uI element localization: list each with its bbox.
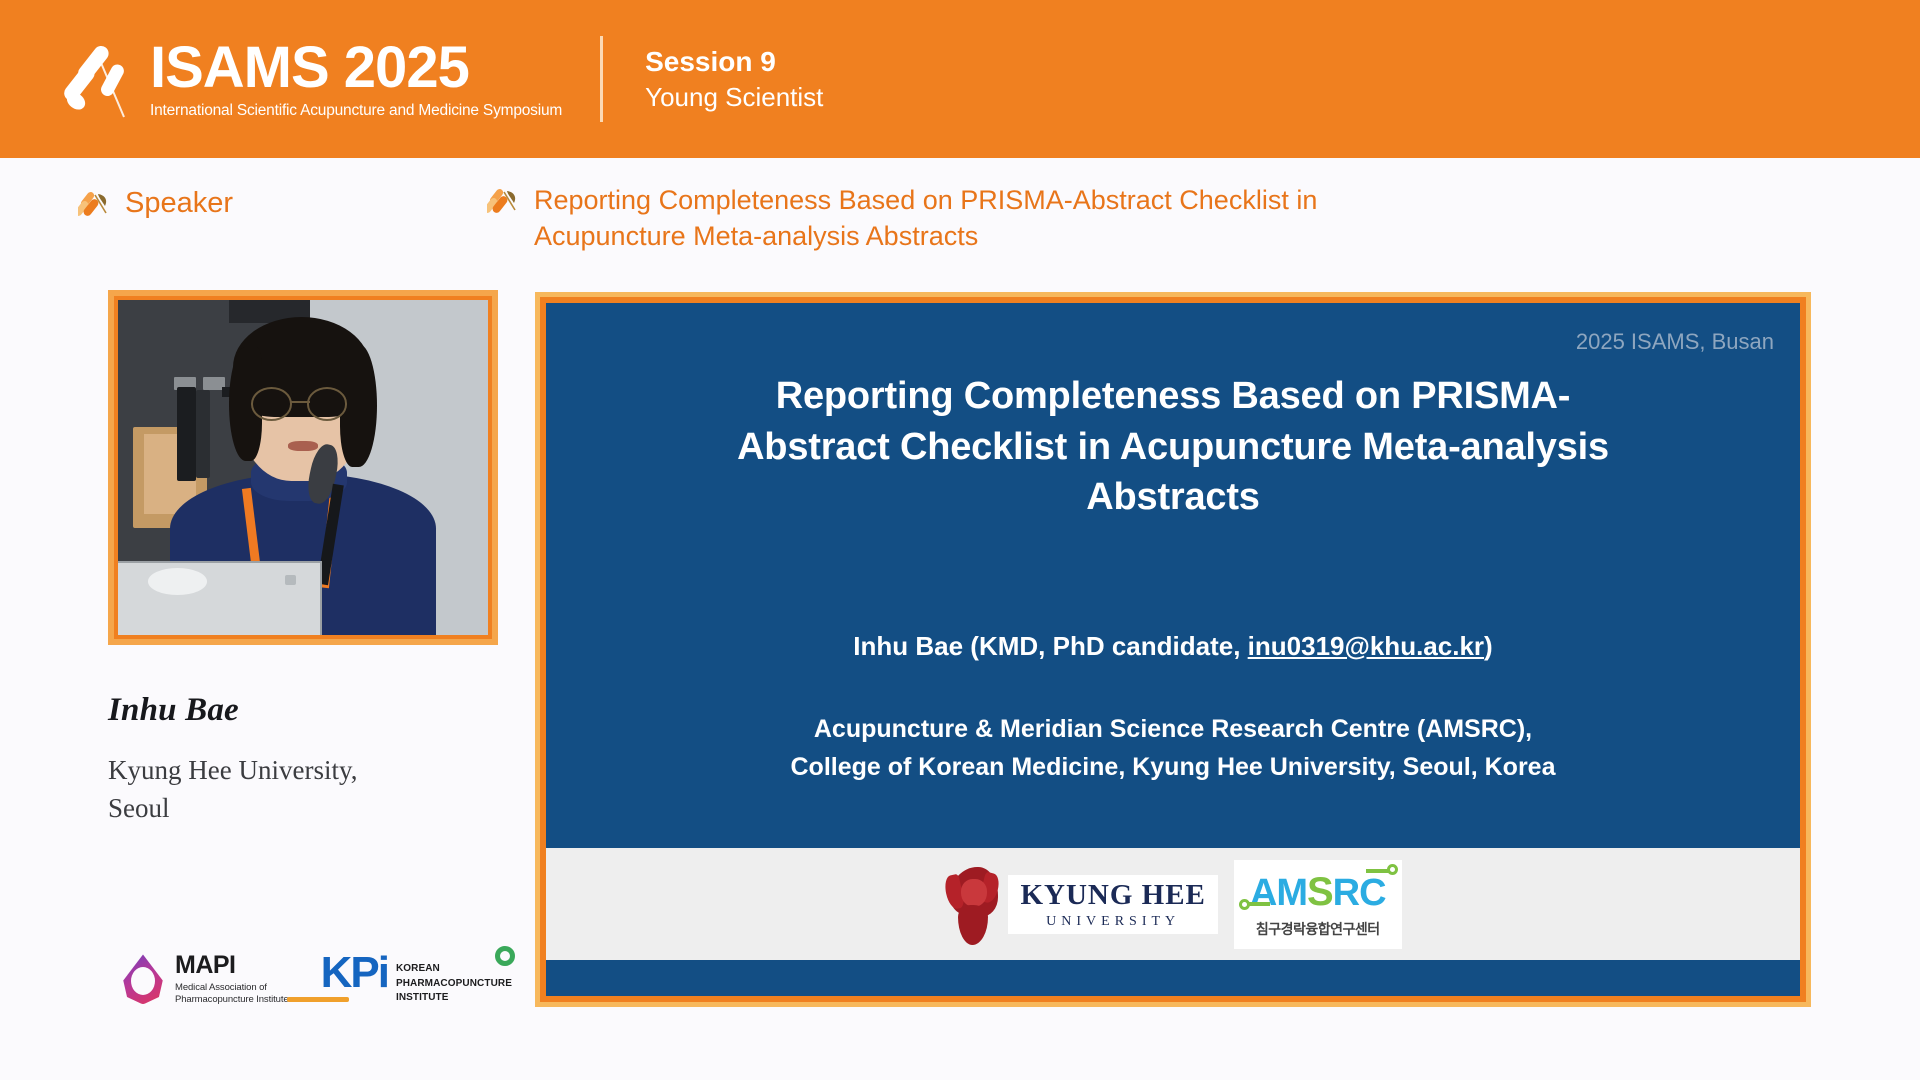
- speaker-label: Speaker: [125, 186, 233, 220]
- brand-subtitle: International Scientific Acupuncture and…: [150, 102, 562, 120]
- sponsor-logo-mapi: MAPI Medical Association of Pharmacopunc…: [122, 953, 289, 1006]
- slide-body: Reporting Completeness Based on PRISMA-A…: [546, 303, 1800, 848]
- needle-bullet-icon: [78, 189, 112, 219]
- session-block: Session 9 Young Scientist: [645, 43, 823, 116]
- slide-canvas: 2025 ISAMS, Busan Reporting Completeness…: [546, 303, 1800, 996]
- slide-logo-bar: KYUNG HEE UNIVERSITY AM S RC 침구경락융합연구센: [546, 848, 1800, 960]
- amsrc-part3: RC: [1333, 874, 1386, 912]
- needle-bullet-icon: [487, 186, 521, 216]
- kpi-underline-accent: [287, 997, 349, 1002]
- speaker-label-group: Speaker: [78, 186, 233, 220]
- brand-title: ISAMS 2025: [150, 39, 562, 97]
- slide-author-suffix: ): [1484, 631, 1493, 661]
- slide-affiliation-line2: College of Korean Medicine, Kyung Hee Un…: [791, 748, 1556, 787]
- slide-border: 2025 ISAMS, Busan Reporting Completeness…: [540, 297, 1806, 1002]
- mapi-fullname-line1: Medical Association of: [175, 982, 289, 994]
- slide-panel[interactable]: 2025 ISAMS, Busan Reporting Completeness…: [535, 292, 1811, 1007]
- mapi-fullname-line2: Pharmacopuncture Institute: [175, 994, 289, 1006]
- session-name: Young Scientist: [645, 80, 823, 115]
- slide-affiliation: Acupuncture & Meridian Science Research …: [791, 710, 1556, 788]
- lion-crest-icon: [944, 863, 1006, 945]
- session-number: Session 9: [645, 43, 823, 81]
- slide-logo-amsrc: AM S RC 침구경락융합연구센터: [1234, 860, 1402, 949]
- mapi-acronym: MAPI: [175, 953, 289, 978]
- slide-author-prefix: Inhu Bae (KMD, PhD candidate,: [853, 631, 1247, 661]
- kpi-fullname-line1: KOREAN: [396, 962, 512, 977]
- mapi-droplet-icon: [122, 954, 164, 1004]
- sponsor-logo-row: MAPI Medical Association of Pharmacopunc…: [122, 953, 512, 1006]
- speaker-photo: [118, 300, 488, 635]
- kpi-fullname-line3: INSTITUTE: [396, 991, 512, 1006]
- slide-title: Reporting Completeness Based on PRISMA-A…: [723, 371, 1623, 523]
- speaker-name: Inhu Bae: [108, 692, 498, 729]
- slide-logo-kyung-hee: KYUNG HEE UNIVERSITY: [944, 863, 1217, 945]
- speaker-affiliation: Kyung Hee University, Seoul: [108, 751, 408, 828]
- subheader-row: Speaker Reporting Completeness Based on …: [0, 158, 1920, 286]
- talk-title: Reporting Completeness Based on PRISMA-A…: [534, 183, 1384, 255]
- speaker-column: Inhu Bae Kyung Hee University, Seoul: [108, 290, 498, 828]
- khu-name: KYUNG HEE: [1020, 881, 1205, 910]
- amsrc-korean-name: 침구경락융합연구센터: [1256, 919, 1380, 939]
- slide-watermark: 2025 ISAMS, Busan: [1576, 329, 1774, 355]
- brand-text: ISAMS 2025 International Scientific Acup…: [150, 39, 562, 120]
- author-email-link[interactable]: inu0319@khu.ac.kr: [1248, 631, 1484, 661]
- slide-author-line: Inhu Bae (KMD, PhD candidate, inu0319@kh…: [853, 631, 1492, 662]
- acupuncture-needles-icon: [62, 37, 146, 121]
- kpi-ring-icon: [495, 946, 515, 966]
- kpi-acronym: KPi: [321, 953, 388, 993]
- page-header: ISAMS 2025 International Scientific Acup…: [0, 0, 1920, 158]
- slide-affiliation-line1: Acupuncture & Meridian Science Research …: [791, 710, 1556, 749]
- amsrc-network-icon: AM S RC: [1250, 872, 1386, 912]
- amsrc-part1: AM: [1250, 874, 1307, 912]
- kpi-fullname-line2: PHARMACOPUNCTURE: [396, 977, 512, 992]
- header-divider: [600, 36, 603, 122]
- khu-subtitle: UNIVERSITY: [1020, 915, 1205, 929]
- amsrc-part2: S: [1307, 872, 1333, 912]
- speaker-photo-frame: [108, 290, 498, 645]
- talk-title-group: Reporting Completeness Based on PRISMA-A…: [487, 183, 1384, 255]
- brand-block: ISAMS 2025 International Scientific Acup…: [62, 0, 562, 158]
- slide-footer-bar: [546, 960, 1800, 996]
- sponsor-logo-kpi: KPi KOREAN PHARMACOPUNCTURE INSTITUTE: [321, 953, 512, 1006]
